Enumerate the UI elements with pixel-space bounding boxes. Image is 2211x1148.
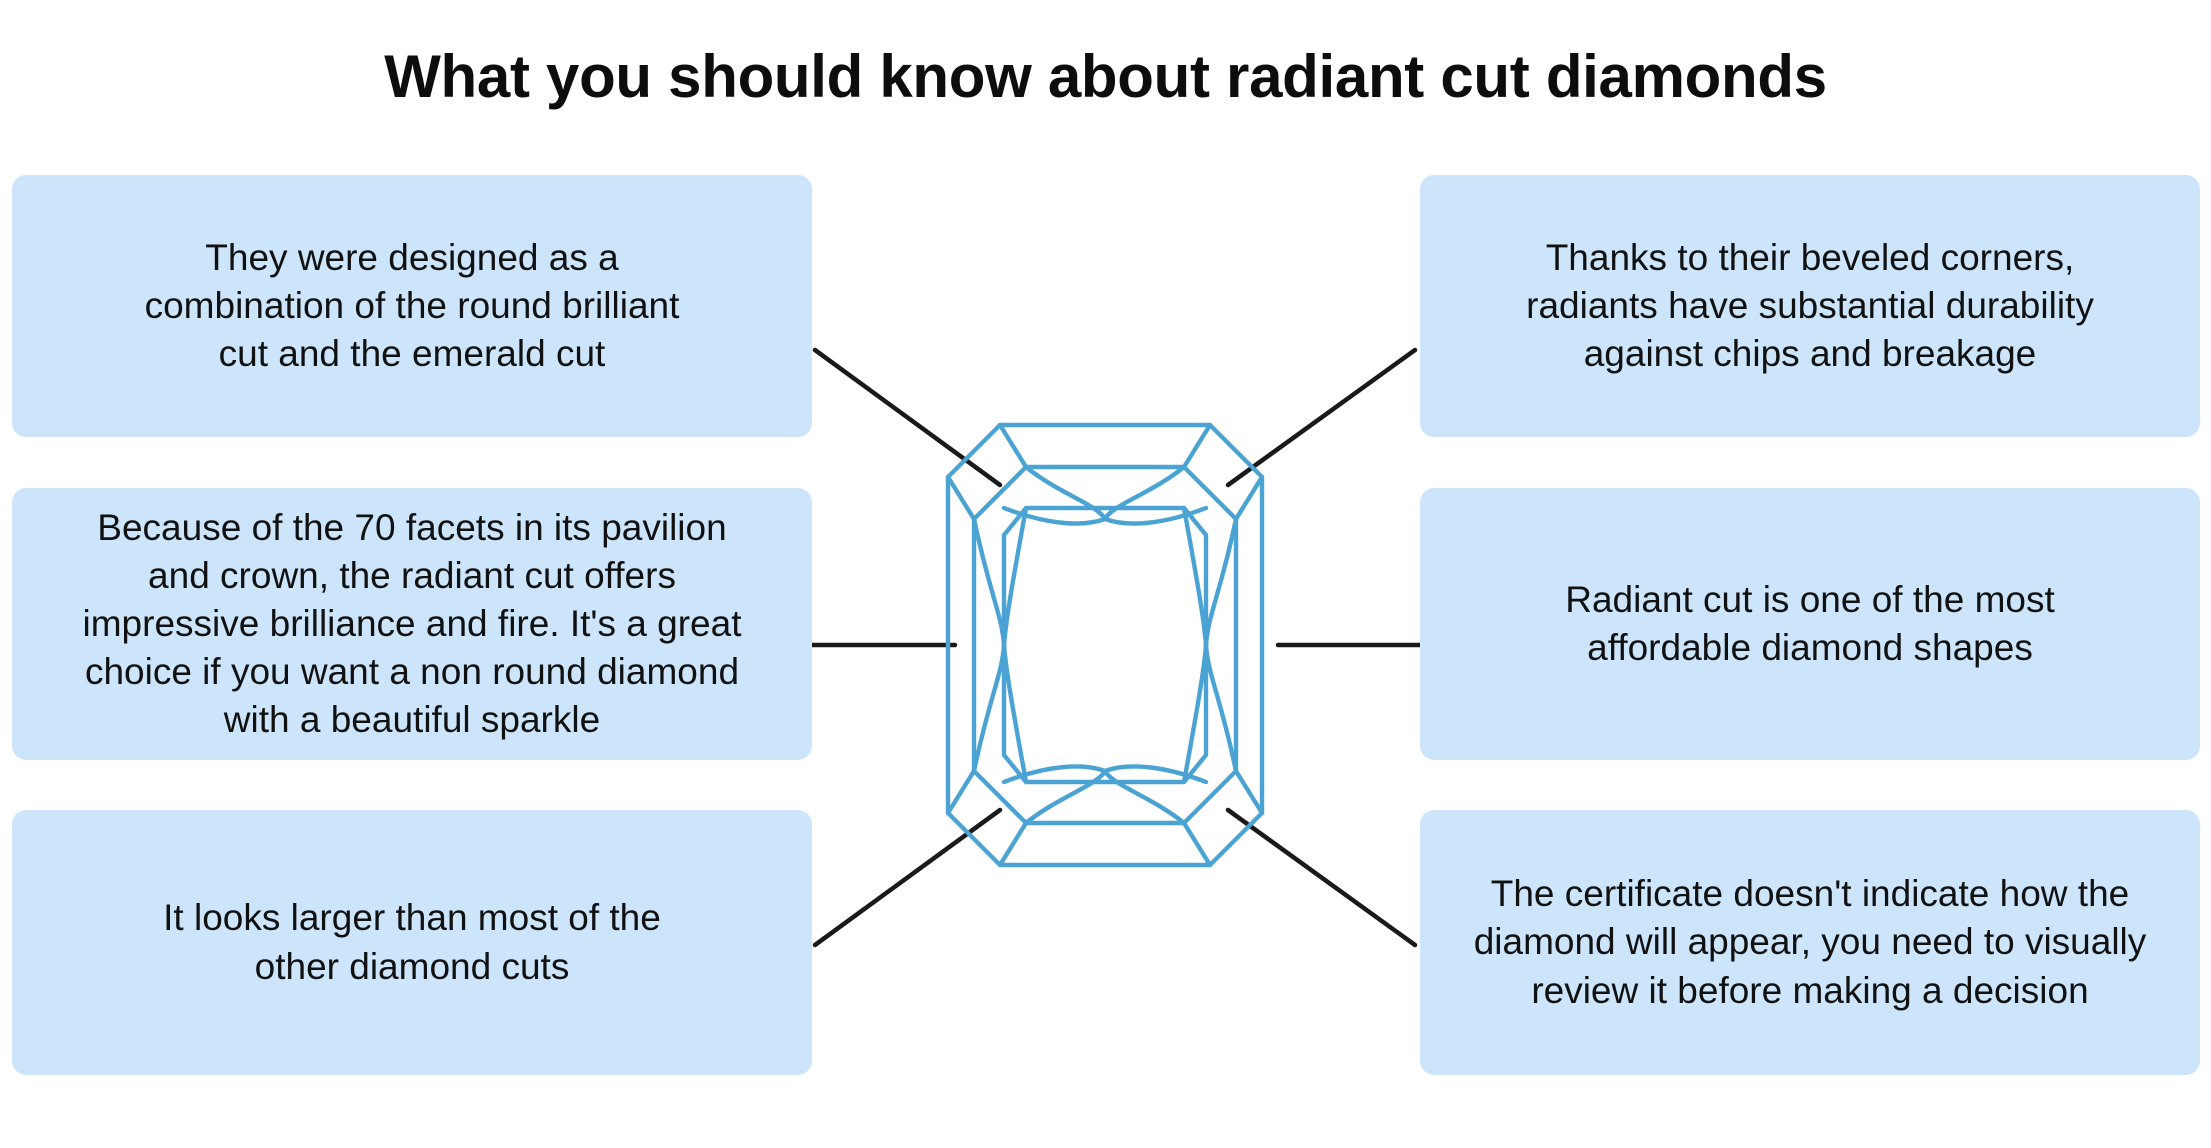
fact-box-certificate[interactable]: The certificate doesn't indicate how the… [1420,810,2200,1075]
diamond-bevel-bottom-right [1184,823,1210,865]
diamond-bevel-left-top [948,477,974,519]
diamond-right-facet-upper [1206,519,1236,645]
diamond-top-facet-right [1105,467,1184,519]
diamond-left-facet-upper [974,519,1004,645]
fact-text-certificate: The certificate doesn't indicate how the… [1474,870,2147,1014]
diamond-bevel-left-bottom [948,771,974,813]
diamond-left-facet-lower [974,645,1004,771]
diamond-bevel-top-left [1000,425,1026,467]
diamond-outer-outline [948,425,1262,865]
diamond-bottom-facet-left [1026,771,1105,823]
fact-box-size[interactable]: It looks larger than most of the other d… [12,810,812,1075]
radiant-cut-diamond-icon [938,415,1272,875]
diamond-right-facet-lower [1206,645,1236,771]
diamond-bevel-bottom-left [1000,823,1026,865]
fact-text-size: It looks larger than most of the other d… [163,894,661,990]
fact-text-facets: Because of the 70 facets in its pavilion… [83,504,742,744]
fact-box-facets[interactable]: Because of the 70 facets in its pavilion… [12,488,812,760]
diamond-top-facet-left [1026,467,1105,519]
fact-text-origin: They were designed as a combination of t… [145,234,680,378]
fact-box-durability[interactable]: Thanks to their beveled corners, radiant… [1420,175,2200,437]
page-title: What you should know about radiant cut d… [0,42,2211,111]
infographic-page: What you should know about radiant cut d… [0,0,2211,1148]
fact-box-origin[interactable]: They were designed as a combination of t… [12,175,812,437]
diamond-bottom-facet-right [1105,771,1184,823]
diamond-bevel-right-bottom [1236,771,1262,813]
diamond-bevel-top-right [1184,425,1210,467]
fact-text-price: Radiant cut is one of the most affordabl… [1565,576,2055,672]
diamond-bevel-right-top [1236,477,1262,519]
fact-text-durability: Thanks to their beveled corners, radiant… [1526,234,2094,378]
diamond-table-outline [1004,508,1206,782]
fact-box-price[interactable]: Radiant cut is one of the most affordabl… [1420,488,2200,760]
